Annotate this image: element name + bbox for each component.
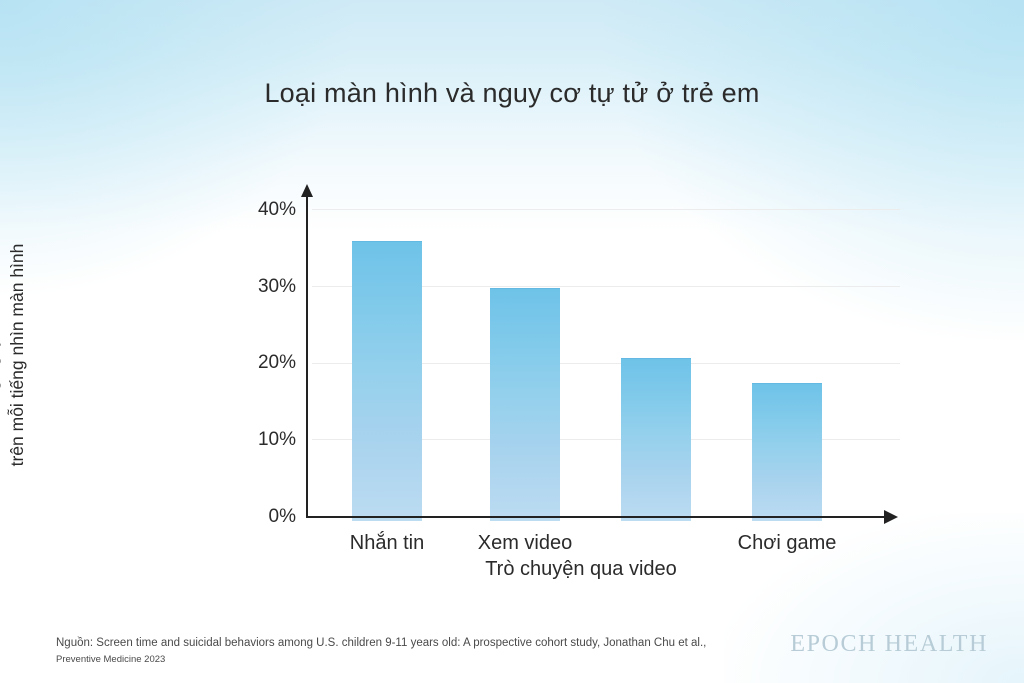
y-tick-10: 10% [226, 429, 296, 451]
x-label-choi-game: Chơi game [692, 532, 882, 555]
bar-xem-video[interactable] [490, 288, 560, 521]
bar-choi-game[interactable] [752, 383, 822, 521]
plot-area [306, 176, 906, 521]
x-label-xem-video: Xem video [430, 532, 620, 555]
y-axis-title-line2: trên mỗi tiếng nhìn màn hình [4, 190, 30, 520]
y-axis-arrow-icon [301, 184, 313, 197]
slide-canvas: Loại màn hình và nguy cơ tự tử ở trẻ em … [0, 0, 1024, 683]
bar-nhan-tin[interactable] [352, 241, 422, 521]
y-axis-tick-labels: 40% 30% 20% 10% 0% [226, 176, 296, 521]
y-tick-30: 30% [226, 276, 296, 298]
y-tick-20: 20% [226, 352, 296, 374]
x-axis-arrow-icon [884, 510, 898, 524]
y-tick-40: 40% [226, 199, 296, 221]
gridline-40 [312, 209, 900, 210]
bar-tro-chuyen-qua-video[interactable] [621, 358, 691, 521]
epoch-health-logo: EPOCH HEALTH [790, 631, 988, 658]
x-axis-line [306, 516, 886, 518]
chart-title: Loại màn hình và nguy cơ tự tử ở trẻ em [0, 78, 1024, 109]
source-citation-line1: Nguồn: Screen time and suicidal behavior… [56, 637, 706, 649]
y-tick-0: 0% [226, 506, 296, 528]
x-label-tro-chuyen-qua-video: Trò chuyện qua video [451, 558, 711, 581]
source-citation-line2: Preventive Medicine 2023 [56, 654, 165, 665]
y-axis-line [306, 186, 308, 516]
y-axis-title: % Tăng nguy cơ tự tử trên mỗi tiếng nhìn… [0, 190, 34, 520]
